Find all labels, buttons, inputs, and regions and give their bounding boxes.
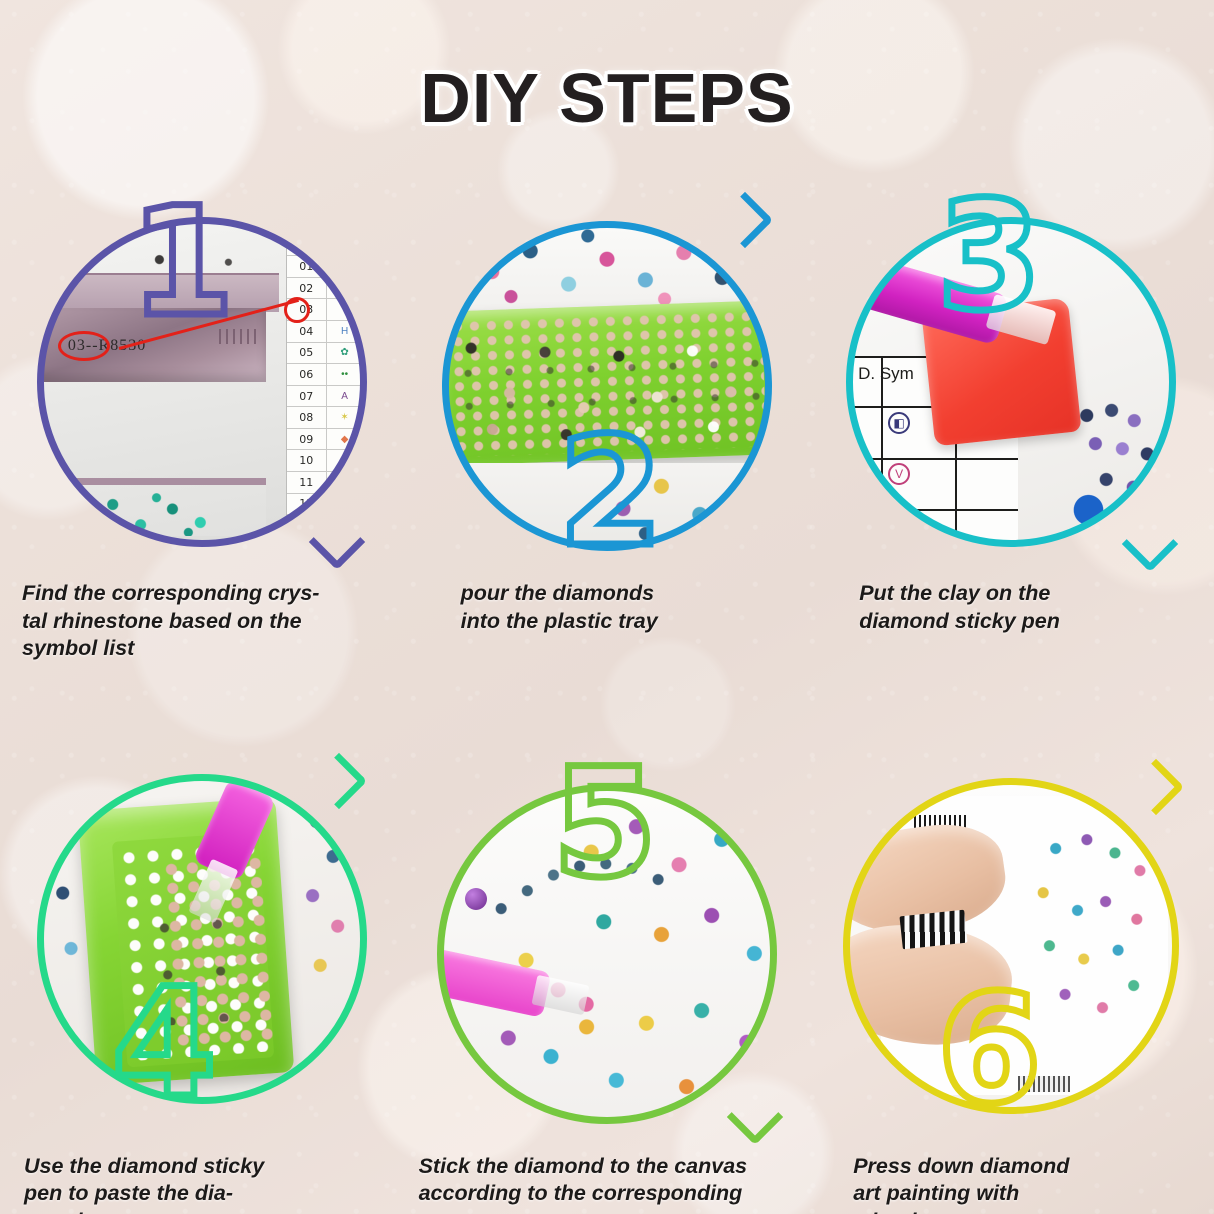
page-title-wrap: DIY STEPS <box>0 58 1214 138</box>
sheet-symbol: V <box>888 463 910 485</box>
symbol-chart-row-highlighted: 03 + <box>287 299 363 321</box>
symbol-chart-row: 04H <box>287 321 363 343</box>
step-6-image-area: 6 <box>809 753 1214 1153</box>
row-symbol <box>326 515 362 536</box>
steps-grid: 03--R8530 NO. 01 02V <box>0 180 1214 1214</box>
step-2-image-area: 2 <box>405 180 810 580</box>
step-2-photo <box>447 226 767 546</box>
row-no: 07 <box>287 390 326 403</box>
tray-diamonds-dark <box>136 900 243 1028</box>
step-1-image-area: 03--R8530 NO. 01 02V <box>0 180 405 580</box>
row-symbol <box>326 472 362 493</box>
step-6-photo <box>848 783 1174 1109</box>
tray-diamonds-dark <box>447 347 767 423</box>
step-6-caption: Press down diamond art painting with a b… <box>849 1153 1214 1214</box>
photo-pen-with-clay: D. Sym ◧ V + <box>851 222 1171 542</box>
step-card-1: 03--R8530 NO. 01 02V <box>0 180 405 663</box>
step-card-3: D. Sym ◧ V + <box>809 180 1214 663</box>
row-no: 02 <box>287 282 326 295</box>
row-symbol: H <box>326 321 362 342</box>
step-5-caption: Stick the diamond to the canvas accordin… <box>415 1153 810 1208</box>
sheet-symbol: + <box>888 514 910 536</box>
photo-green-tray-with-diamonds <box>447 226 767 546</box>
single-diamond-bead <box>465 888 487 910</box>
symbol-chart: NO. 01 02V 03 + 04H <box>286 235 363 536</box>
step-4-photo <box>42 779 362 1099</box>
canvas-art-right <box>286 791 363 1009</box>
bag-upper <box>42 273 279 311</box>
step-4-caption: Use the diamond sticky pen to paste the … <box>20 1153 405 1214</box>
step-4-image-area: 4 <box>0 753 405 1153</box>
row-no: 05 <box>287 346 326 359</box>
sheet-symbol: ◧ <box>888 412 910 434</box>
step-5-photo <box>442 789 772 1119</box>
plastic-tray <box>447 300 767 465</box>
canvas-pattern-bottom <box>447 463 767 546</box>
step-1-photo: 03--R8530 NO. 01 02V <box>42 222 362 542</box>
row-no: 06 <box>287 368 326 381</box>
photo-rhinestone-bags-symbol-chart: 03--R8530 NO. 01 02V <box>42 222 362 542</box>
barcode-label-secondary <box>1018 1076 1070 1092</box>
book <box>899 910 967 949</box>
steps-row-top: 03--R8530 NO. 01 02V <box>0 180 1214 663</box>
step-card-4: 4 Use the diamond sticky pen to paste th… <box>0 753 405 1214</box>
butterfly-motif <box>1012 822 1168 1044</box>
symbol-chart-row: 07A <box>287 386 363 408</box>
symbol-chart-row: 01 <box>287 256 363 278</box>
canvas-pattern-top <box>447 226 767 309</box>
page-title: DIY STEPS <box>420 58 793 138</box>
bag-label-circle-annotation <box>58 331 110 361</box>
step-card-6: 6 Press down diamond art painting with a… <box>809 753 1214 1214</box>
step-card-2: 2 pour the diamonds into the plastic tra… <box>405 180 810 663</box>
steps-row-bottom: 4 Use the diamond sticky pen to paste th… <box>0 753 1214 1214</box>
step-2-caption: pour the diamonds into the plastic tray <box>457 580 810 635</box>
sheet-line <box>851 458 1017 460</box>
symbol-chart-row: 06•• <box>287 364 363 386</box>
row-no: 09 <box>287 433 326 446</box>
butterfly-antenna <box>475 828 693 940</box>
teal-rhinestones <box>61 491 259 536</box>
row-symbol: ✶ <box>326 407 362 428</box>
row-symbol: ⬭ <box>326 450 362 471</box>
row-no: 01 <box>287 260 326 273</box>
row-symbol: ◆ <box>326 429 362 450</box>
photo-pen-picking-diamond <box>42 779 362 1099</box>
symbol-chart-row: 10⬭ <box>287 450 363 472</box>
butterfly-wing-left <box>462 927 640 1112</box>
plastic-tray <box>78 798 295 1086</box>
row-symbol: ✿ <box>326 343 362 364</box>
photo-hands-pressing-canvas <box>848 783 1174 1109</box>
row-no: 08 <box>287 411 326 424</box>
symbol-chart-row: 11 <box>287 472 363 494</box>
row-symbol <box>326 256 362 277</box>
sheet-line <box>851 509 1017 511</box>
symbol-chart-row: 13 <box>287 515 363 536</box>
symbol-chart-header-row: NO. <box>287 235 363 257</box>
step-3-photo: D. Sym ◧ V + <box>851 222 1171 542</box>
diy-steps-infographic: DIY STEPS 03--R8530 <box>0 0 1214 1214</box>
row-symbol: + <box>326 299 362 320</box>
step-3-caption: Put the clay on the diamond sticky pen <box>855 580 1214 635</box>
step-1-caption: Find the corresponding crys- tal rhinest… <box>18 580 405 663</box>
symbol-chart-row: 12 <box>287 494 363 516</box>
step-3-image-area: D. Sym ◧ V + <box>809 180 1214 580</box>
symbol-chart-row: 09◆ <box>287 429 363 451</box>
row-no: 04 <box>287 325 326 338</box>
symbol-chart-row: 08✶ <box>287 407 363 429</box>
symbol-chart-header-no: NO. <box>287 239 326 252</box>
row-no: 13 <box>287 519 326 532</box>
step-5-image-area: 5 <box>405 753 810 1153</box>
symbol-chart-row: 05✿ <box>287 343 363 365</box>
canvas-leaf-motif <box>1063 484 1114 535</box>
row-symbol: A <box>326 386 362 407</box>
photo-butterfly-canvas <box>442 789 772 1119</box>
row-no: 10 <box>287 454 326 467</box>
bag-stripes <box>219 329 257 344</box>
sheet-header-label: D. Sym <box>858 364 914 384</box>
row-symbol <box>326 494 362 515</box>
row-no: 12 <box>287 497 326 510</box>
row-symbol: V <box>326 278 362 299</box>
row-symbol: •• <box>326 364 362 385</box>
step-card-5: 5 Stick the diamond to the canvas accord… <box>405 753 810 1214</box>
sheet-line <box>881 358 883 542</box>
symbol-chart-header-sym <box>326 235 362 256</box>
row-no: 11 <box>287 476 326 489</box>
